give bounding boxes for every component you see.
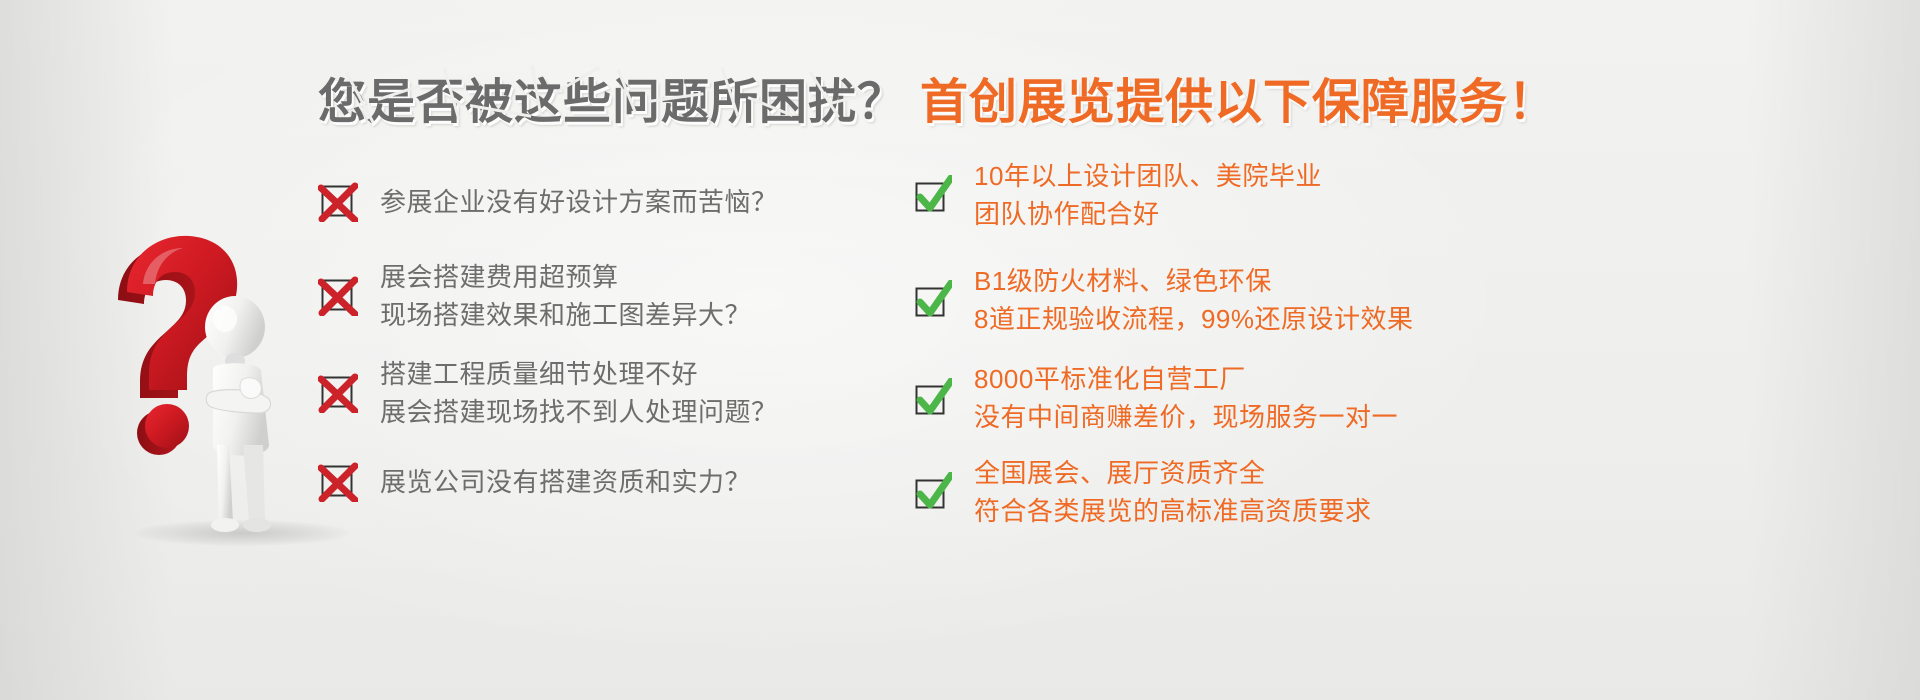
problem-item-line: 搭建工程质量细节处理不好 (380, 355, 778, 393)
problem-item-line: 展会搭建现场找不到人处理问题？ (380, 393, 778, 431)
problem-item-line: 现场搭建效果和施工图差异大？ (380, 296, 751, 334)
3d-thinking-person-icon (173, 295, 313, 545)
problems-heading: 您是否被这些问题所困扰？ (318, 62, 906, 132)
service-item-line: 团队协作配合好 (974, 195, 1322, 233)
service-item: 全国展会、展厅资质齐全 符合各类展览的高标准高资质要求 (912, 454, 1372, 530)
service-item: B1级防火材料、绿色环保 8道正规验收流程，99%还原设计效果 (912, 262, 1414, 338)
green-check-checkbox-icon (912, 280, 952, 320)
hero-illustration (95, 230, 325, 550)
service-item: 10年以上设计团队、美院毕业 团队协作配合好 (912, 157, 1322, 233)
service-item-text: 10年以上设计团队、美院毕业 团队协作配合好 (974, 157, 1322, 233)
service-item-line: 符合各类展览的高标准高资质要求 (974, 492, 1372, 530)
red-cross-checkbox-icon (318, 182, 358, 222)
promo-banner: 您是否被这些问题所困扰？ 参展企业没有好设计方案而苦恼？ (0, 0, 1920, 700)
problem-item-text: 展会搭建费用超预算 现场搭建效果和施工图差异大？ (380, 258, 751, 334)
problem-item: 参展企业没有好设计方案而苦恼？ (318, 182, 778, 222)
problem-item-text: 搭建工程质量细节处理不好 展会搭建现场找不到人处理问题？ (380, 355, 778, 431)
problem-item-text: 展览公司没有搭建资质和实力？ (380, 463, 751, 501)
problem-item-line: 展览公司没有搭建资质和实力？ (380, 463, 751, 501)
problem-item: 展会搭建费用超预算 现场搭建效果和施工图差异大？ (318, 258, 751, 334)
problems-column: 您是否被这些问题所困扰？ 参展企业没有好设计方案而苦恼？ (318, 62, 893, 582)
services-heading: 首创展览提供以下保障服务！ (920, 62, 1557, 132)
service-item-line: 没有中间商赚差价，现场服务一对一 (974, 398, 1398, 436)
red-cross-checkbox-icon (318, 373, 358, 413)
service-item-text: B1级防火材料、绿色环保 8道正规验收流程，99%还原设计效果 (974, 262, 1414, 338)
service-item-line: 10年以上设计团队、美院毕业 (974, 157, 1322, 195)
problem-item: 展览公司没有搭建资质和实力？ (318, 462, 751, 502)
green-check-checkbox-icon (912, 378, 952, 418)
service-item: 8000平标准化自营工厂 没有中间商赚差价，现场服务一对一 (912, 360, 1398, 436)
problem-item: 搭建工程质量细节处理不好 展会搭建现场找不到人处理问题？ (318, 355, 778, 431)
green-check-checkbox-icon (912, 175, 952, 215)
service-item-line: 8道正规验收流程，99%还原设计效果 (974, 300, 1414, 338)
service-item-text: 全国展会、展厅资质齐全 符合各类展览的高标准高资质要求 (974, 454, 1372, 530)
service-item-line: B1级防火材料、绿色环保 (974, 262, 1414, 300)
red-cross-checkbox-icon (318, 276, 358, 316)
problem-item-line: 展会搭建费用超预算 (380, 258, 751, 296)
problem-item-text: 参展企业没有好设计方案而苦恼？ (380, 183, 778, 221)
services-column: 首创展览提供以下保障服务！ 10年以上设计团队、美院毕业 团队协作配合好 (912, 62, 1512, 582)
red-cross-checkbox-icon (318, 462, 358, 502)
service-item-text: 8000平标准化自营工厂 没有中间商赚差价，现场服务一对一 (974, 360, 1398, 436)
green-check-checkbox-icon (912, 472, 952, 512)
problem-item-line: 参展企业没有好设计方案而苦恼？ (380, 183, 778, 221)
service-item-line: 8000平标准化自营工厂 (974, 360, 1398, 398)
service-item-line: 全国展会、展厅资质齐全 (974, 454, 1372, 492)
